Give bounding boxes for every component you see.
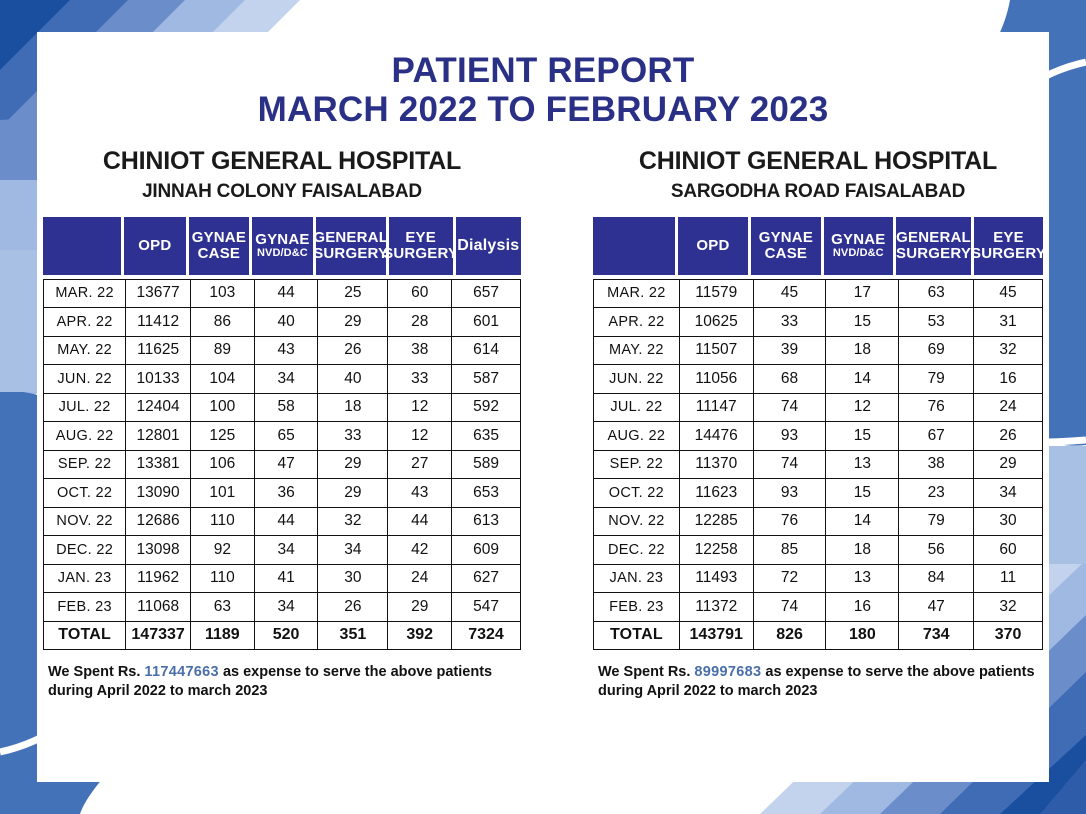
row-month-label: NOV. 22 — [594, 507, 680, 536]
spend-prefix-right: We Spent Rs. — [598, 664, 690, 680]
data-cell: 12404 — [126, 393, 191, 422]
data-cell: 11068 — [126, 593, 191, 622]
data-cell: 592 — [452, 393, 521, 422]
data-cell: 89 — [190, 336, 254, 365]
row-month-label: TOTAL — [594, 621, 680, 650]
data-cell: 74 — [753, 450, 826, 479]
data-cell: 29 — [318, 308, 388, 337]
data-cell: 60 — [388, 279, 452, 308]
data-cell: 44 — [388, 507, 452, 536]
data-cell: 392 — [388, 621, 452, 650]
column-header-line2: SURGERY — [383, 246, 458, 261]
data-cell: 11962 — [126, 564, 191, 593]
column-header-line2: SURGERY — [896, 246, 971, 261]
hospital-branch-left: JINNAH COLONY FAISALABAD — [43, 181, 521, 203]
tables-row: CHINIOT GENERAL HOSPITAL JINNAH COLONY F… — [37, 148, 1049, 701]
data-cell: 23 — [899, 479, 974, 508]
data-cell: 69 — [899, 336, 974, 365]
column-header-gynae-case-right: GYNAECASE — [751, 217, 820, 275]
data-cell: 110 — [190, 564, 254, 593]
table-row: MAR. 2213677103442560657 — [44, 279, 521, 308]
column-header-line2: CASE — [198, 246, 240, 261]
data-cell: 36 — [254, 479, 318, 508]
data-cell: 100 — [190, 393, 254, 422]
hospital-table-sargodha-road: CHINIOT GENERAL HOSPITAL SARGODHA ROAD F… — [593, 148, 1043, 701]
data-cell: 65 — [254, 422, 318, 451]
data-cell: 11 — [974, 564, 1043, 593]
data-cell: 79 — [899, 507, 974, 536]
data-cell: 12258 — [679, 536, 753, 565]
data-cell: 74 — [753, 593, 826, 622]
data-cell: 11623 — [679, 479, 753, 508]
data-cell: 14 — [826, 507, 899, 536]
data-cell: 43 — [254, 336, 318, 365]
column-header-line1: GYNAE — [759, 230, 813, 245]
data-cell: 370 — [974, 621, 1043, 650]
column-header-line2: NVD/D&C — [833, 248, 884, 259]
data-cell: 103 — [190, 279, 254, 308]
data-cell: 10625 — [679, 308, 753, 337]
data-cell: 26 — [318, 593, 388, 622]
data-cell: 15 — [826, 422, 899, 451]
data-cell: 30 — [974, 507, 1043, 536]
data-cell: 93 — [753, 422, 826, 451]
table-row: SEP. 2213381106472927589 — [44, 450, 521, 479]
data-cell: 67 — [899, 422, 974, 451]
table-row: OCT. 221162393152334 — [594, 479, 1043, 508]
row-month-label: AUG. 22 — [44, 422, 126, 451]
data-cell: 33 — [753, 308, 826, 337]
table-row: FEB. 231106863342629547 — [44, 593, 521, 622]
hospital-name-right: CHINIOT GENERAL HOSPITAL — [593, 148, 1043, 176]
row-month-label: DEC. 22 — [44, 536, 126, 565]
data-cell: 589 — [452, 450, 521, 479]
data-cell: 18 — [826, 536, 899, 565]
data-cell: 92 — [190, 536, 254, 565]
data-cell: 1189 — [190, 621, 254, 650]
column-header-line1: GYNAE — [192, 230, 246, 245]
data-cell: 180 — [826, 621, 899, 650]
column-header-line1: EYE — [993, 230, 1024, 245]
page-title-line-2: MARCH 2022 TO FEBRUARY 2023 — [37, 90, 1049, 129]
data-cell: 13381 — [126, 450, 191, 479]
data-cell: 29 — [388, 593, 452, 622]
data-cell: 13677 — [126, 279, 191, 308]
title-block: PATIENT REPORT MARCH 2022 TO FEBRUARY 20… — [37, 32, 1049, 129]
data-cell: 38 — [899, 450, 974, 479]
data-cell: 147337 — [126, 621, 191, 650]
row-month-label: FEB. 23 — [594, 593, 680, 622]
data-cell: 68 — [753, 365, 826, 394]
table-row: APR. 221062533155331 — [594, 308, 1043, 337]
data-cell: 58 — [254, 393, 318, 422]
column-header-line1: OPD — [138, 238, 171, 253]
table-row: DEC. 221309892343442609 — [44, 536, 521, 565]
row-month-label: OCT. 22 — [594, 479, 680, 508]
row-month-label: JAN. 23 — [44, 564, 126, 593]
spend-note-left: We Spent Rs. 117447663 as expense to ser… — [43, 663, 521, 701]
row-month-label: APR. 22 — [44, 308, 126, 337]
data-cell: 32 — [974, 593, 1043, 622]
data-cell: 12 — [388, 422, 452, 451]
row-month-label: MAR. 22 — [44, 279, 126, 308]
column-header-line1: GENERAL — [896, 230, 971, 245]
spend-prefix-left: We Spent Rs. — [48, 664, 140, 680]
data-cell: 31 — [974, 308, 1043, 337]
data-cell: 11412 — [126, 308, 191, 337]
data-cell: 11370 — [679, 450, 753, 479]
data-cell: 72 — [753, 564, 826, 593]
data-cell: 34 — [318, 536, 388, 565]
spend-note-right: We Spent Rs. 89997683 as expense to serv… — [593, 663, 1043, 701]
data-cell: 74 — [753, 393, 826, 422]
data-cell: 15 — [826, 479, 899, 508]
data-cell: 125 — [190, 422, 254, 451]
data-cell: 11372 — [679, 593, 753, 622]
page-title-line-1: PATIENT REPORT — [37, 51, 1049, 90]
data-cell: 12 — [826, 393, 899, 422]
data-cell: 40 — [318, 365, 388, 394]
spend-amount-left: 117447663 — [144, 664, 218, 680]
data-cell: 63 — [899, 279, 974, 308]
data-cell: 26 — [974, 422, 1043, 451]
row-month-label: JUN. 22 — [44, 365, 126, 394]
data-cell: 25 — [318, 279, 388, 308]
column-header-line1: GENERAL — [313, 230, 388, 245]
table-row: DEC. 221225885185660 — [594, 536, 1043, 565]
data-cell: 14 — [826, 365, 899, 394]
data-cell: 27 — [388, 450, 452, 479]
table-header-strip-left: OPDGYNAECASEGYNAENVD/D&CGENERALSURGERYEY… — [43, 217, 521, 275]
data-cell: 12285 — [679, 507, 753, 536]
column-header-blank-right — [593, 217, 675, 275]
data-cell: 24 — [388, 564, 452, 593]
data-cell: 79 — [899, 365, 974, 394]
data-cell: 627 — [452, 564, 521, 593]
table-row: FEB. 231137274164732 — [594, 593, 1043, 622]
data-cell: 76 — [753, 507, 826, 536]
table-row: JAN. 231149372138411 — [594, 564, 1043, 593]
data-cell: 38 — [388, 336, 452, 365]
table-row: OCT. 2213090101362943653 — [44, 479, 521, 508]
table-header-strip-right: OPDGYNAECASEGYNAENVD/D&CGENERALSURGERYEY… — [593, 217, 1043, 275]
data-cell: 11507 — [679, 336, 753, 365]
column-header-eye-surgery-left: EYESURGERY — [389, 217, 453, 275]
data-cell: 12686 — [126, 507, 191, 536]
data-cell: 15 — [826, 308, 899, 337]
data-cell: 609 — [452, 536, 521, 565]
column-header-line2: NVD/D&C — [257, 248, 308, 259]
patient-data-table-right: MAR. 221157945176345APR. 221062533155331… — [593, 279, 1043, 651]
data-cell: 93 — [753, 479, 826, 508]
column-header-line2: SURGERY — [971, 246, 1046, 261]
column-header-line1: GYNAE — [255, 232, 309, 247]
data-cell: 76 — [899, 393, 974, 422]
data-cell: 24 — [974, 393, 1043, 422]
data-cell: 613 — [452, 507, 521, 536]
table-row: AUG. 221447693156726 — [594, 422, 1043, 451]
column-header-blank-left — [43, 217, 121, 275]
data-cell: 53 — [899, 308, 974, 337]
spend-amount-right: 89997683 — [694, 664, 761, 680]
data-cell: 33 — [388, 365, 452, 394]
table-row: SEP. 221137074133829 — [594, 450, 1043, 479]
data-cell: 45 — [974, 279, 1043, 308]
data-cell: 86 — [190, 308, 254, 337]
table-row: JUN. 2210133104344033587 — [44, 365, 521, 394]
data-cell: 101 — [190, 479, 254, 508]
table-body-right: MAR. 221157945176345APR. 221062533155331… — [594, 279, 1043, 650]
hospital-branch-right: SARGODHA ROAD FAISALABAD — [593, 181, 1043, 203]
data-cell: 17 — [826, 279, 899, 308]
data-cell: 11056 — [679, 365, 753, 394]
column-header-line2: CASE — [765, 246, 807, 261]
data-cell: 351 — [318, 621, 388, 650]
data-cell: 16 — [826, 593, 899, 622]
column-header-line1: OPD — [696, 238, 729, 253]
column-header-line1: GYNAE — [831, 232, 885, 247]
table-row: MAY. 221162589432638614 — [44, 336, 521, 365]
data-cell: 44 — [254, 507, 318, 536]
data-cell: 56 — [899, 536, 974, 565]
data-cell: 45 — [753, 279, 826, 308]
data-cell: 39 — [753, 336, 826, 365]
data-cell: 11625 — [126, 336, 191, 365]
data-cell: 18 — [318, 393, 388, 422]
data-cell: 734 — [899, 621, 974, 650]
row-month-label: JUL. 22 — [44, 393, 126, 422]
row-month-label: APR. 22 — [594, 308, 680, 337]
data-cell: 28 — [388, 308, 452, 337]
column-header-line1: EYE — [405, 230, 436, 245]
data-cell: 29 — [318, 450, 388, 479]
patient-data-table-left: MAR. 2213677103442560657APR. 22114128640… — [43, 279, 521, 651]
column-header-line1: Dialysis — [457, 238, 519, 254]
row-month-label: NOV. 22 — [44, 507, 126, 536]
data-cell: 32 — [318, 507, 388, 536]
data-cell: 41 — [254, 564, 318, 593]
column-header-opd-right: OPD — [678, 217, 748, 275]
row-month-label: SEP. 22 — [594, 450, 680, 479]
data-cell: 14476 — [679, 422, 753, 451]
data-cell: 29 — [974, 450, 1043, 479]
column-header-general-surgery-right: GENERALSURGERY — [896, 217, 971, 275]
table-total-row: TOTAL143791826180734370 — [594, 621, 1043, 650]
data-cell: 34 — [254, 593, 318, 622]
data-cell: 614 — [452, 336, 521, 365]
row-month-label: SEP. 22 — [44, 450, 126, 479]
hospital-table-jinnah-colony: CHINIOT GENERAL HOSPITAL JINNAH COLONY F… — [43, 148, 521, 701]
data-cell: 601 — [452, 308, 521, 337]
column-header-gynae-case-left: GYNAECASE — [189, 217, 250, 275]
data-cell: 47 — [254, 450, 318, 479]
data-cell: 85 — [753, 536, 826, 565]
data-cell: 63 — [190, 593, 254, 622]
data-cell: 143791 — [679, 621, 753, 650]
table-row: JAN. 2311962110413024627 — [44, 564, 521, 593]
row-month-label: TOTAL — [44, 621, 126, 650]
table-row: MAR. 221157945176345 — [594, 279, 1043, 308]
table-row: NOV. 2212686110443244613 — [44, 507, 521, 536]
data-cell: 60 — [974, 536, 1043, 565]
data-cell: 43 — [388, 479, 452, 508]
data-cell: 47 — [899, 593, 974, 622]
data-cell: 32 — [974, 336, 1043, 365]
data-cell: 40 — [254, 308, 318, 337]
data-cell: 12 — [388, 393, 452, 422]
data-cell: 42 — [388, 536, 452, 565]
row-month-label: JUL. 22 — [594, 393, 680, 422]
row-month-label: DEC. 22 — [594, 536, 680, 565]
data-cell: 13 — [826, 450, 899, 479]
data-cell: 110 — [190, 507, 254, 536]
data-cell: 635 — [452, 422, 521, 451]
column-header-eye-surgery-right: EYESURGERY — [974, 217, 1043, 275]
data-cell: 13 — [826, 564, 899, 593]
table-row: JUL. 2212404100581812592 — [44, 393, 521, 422]
data-cell: 826 — [753, 621, 826, 650]
data-cell: 16 — [974, 365, 1043, 394]
row-month-label: OCT. 22 — [44, 479, 126, 508]
data-cell: 12801 — [126, 422, 191, 451]
table-row: JUN. 221105668147916 — [594, 365, 1043, 394]
table-row: MAY. 221150739186932 — [594, 336, 1043, 365]
row-month-label: MAY. 22 — [44, 336, 126, 365]
row-month-label: MAR. 22 — [594, 279, 680, 308]
data-cell: 13090 — [126, 479, 191, 508]
table-row: NOV. 221228576147930 — [594, 507, 1043, 536]
column-header-line2: SURGERY — [313, 246, 388, 261]
row-month-label: FEB. 23 — [44, 593, 126, 622]
row-month-label: AUG. 22 — [594, 422, 680, 451]
patient-report-poster: PATIENT REPORT MARCH 2022 TO FEBRUARY 20… — [0, 0, 1086, 814]
table-body-left: MAR. 2213677103442560657APR. 22114128640… — [44, 279, 521, 650]
column-header-general-surgery-left: GENERALSURGERY — [316, 217, 386, 275]
table-row: AUG. 2212801125653312635 — [44, 422, 521, 451]
data-cell: 18 — [826, 336, 899, 365]
data-cell: 7324 — [452, 621, 521, 650]
data-cell: 34 — [254, 365, 318, 394]
data-cell: 587 — [452, 365, 521, 394]
column-header-dialysis-left: Dialysis — [456, 217, 521, 275]
row-month-label: MAY. 22 — [594, 336, 680, 365]
row-month-label: JUN. 22 — [594, 365, 680, 394]
data-cell: 34 — [254, 536, 318, 565]
hospital-name-left: CHINIOT GENERAL HOSPITAL — [43, 148, 521, 176]
column-header-opd-left: OPD — [124, 217, 186, 275]
data-cell: 11147 — [679, 393, 753, 422]
data-cell: 106 — [190, 450, 254, 479]
data-cell: 657 — [452, 279, 521, 308]
data-cell: 34 — [974, 479, 1043, 508]
column-header-gynae-nvd-d-c-left: GYNAENVD/D&C — [252, 217, 313, 275]
data-cell: 26 — [318, 336, 388, 365]
data-cell: 653 — [452, 479, 521, 508]
poster-content: PATIENT REPORT MARCH 2022 TO FEBRUARY 20… — [37, 32, 1049, 782]
data-cell: 33 — [318, 422, 388, 451]
table-row: JUL. 221114774127624 — [594, 393, 1043, 422]
column-header-gynae-nvd-d-c-right: GYNAENVD/D&C — [824, 217, 893, 275]
data-cell: 547 — [452, 593, 521, 622]
data-cell: 13098 — [126, 536, 191, 565]
data-cell: 29 — [318, 479, 388, 508]
data-cell: 84 — [899, 564, 974, 593]
data-cell: 104 — [190, 365, 254, 394]
data-cell: 11493 — [679, 564, 753, 593]
data-cell: 11579 — [679, 279, 753, 308]
row-month-label: JAN. 23 — [594, 564, 680, 593]
data-cell: 10133 — [126, 365, 191, 394]
data-cell: 520 — [254, 621, 318, 650]
table-total-row: TOTAL14733711895203513927324 — [44, 621, 521, 650]
data-cell: 44 — [254, 279, 318, 308]
table-row: APR. 221141286402928601 — [44, 308, 521, 337]
data-cell: 30 — [318, 564, 388, 593]
